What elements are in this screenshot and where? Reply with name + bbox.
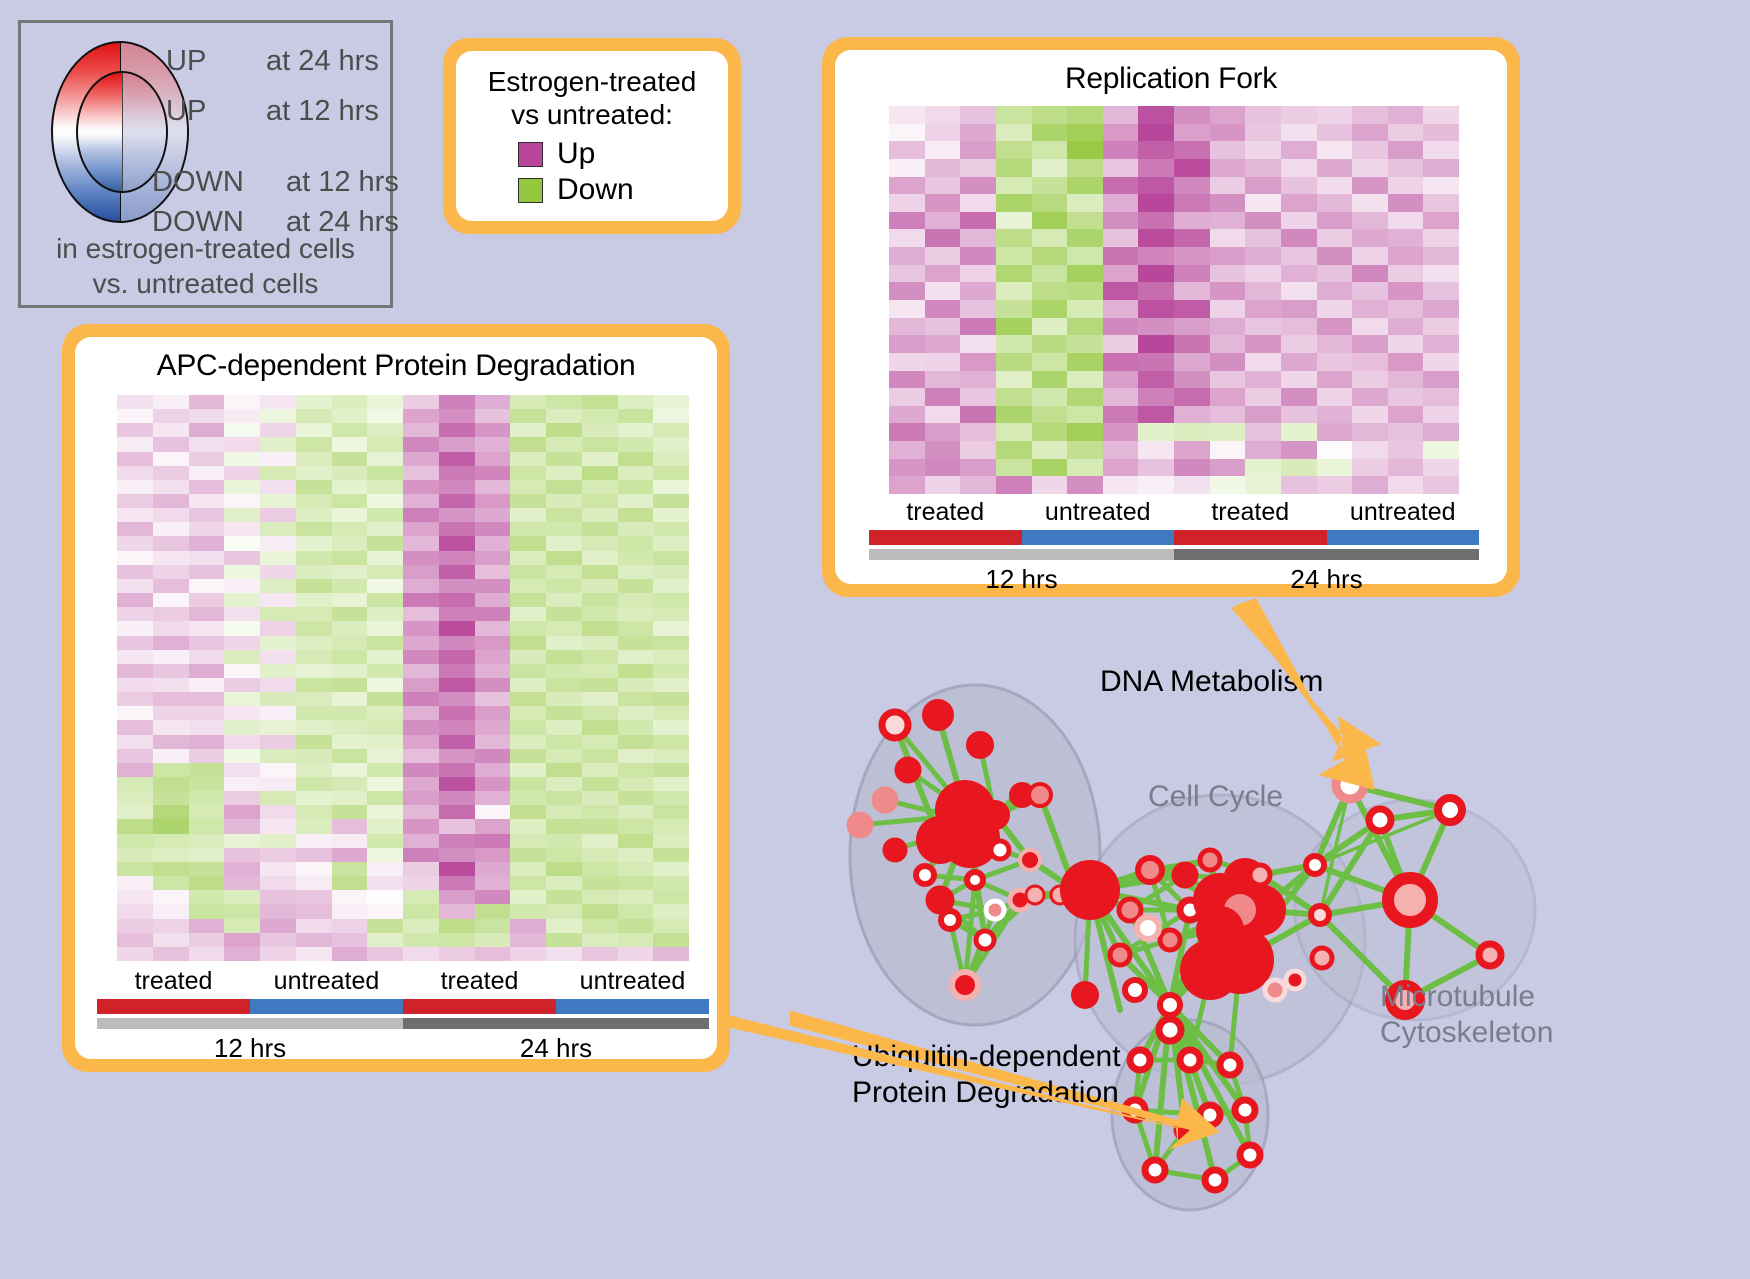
- heatmap-cell: [1103, 441, 1139, 459]
- heatmap-cell: [189, 480, 225, 494]
- heatmap-cell: [439, 678, 475, 692]
- heatmap-cell: [189, 664, 225, 678]
- heatmap-cell: [582, 409, 618, 423]
- heatmap-cell: [117, 749, 153, 763]
- heatmap-cell: [475, 720, 511, 734]
- heatmap-cell: [189, 593, 225, 607]
- heatmap-cell: [296, 763, 332, 777]
- heatmap-cell: [439, 848, 475, 862]
- heatmap-cell: [153, 395, 189, 409]
- heatmap-cell: [189, 819, 225, 833]
- heatmap-cell: [260, 947, 296, 961]
- heatmap-cell: [367, 890, 403, 904]
- heatmap-cell: [296, 593, 332, 607]
- heatmap-cell: [439, 834, 475, 848]
- apc-time-labels-row: 12 hrs 24 hrs: [97, 1029, 709, 1064]
- heatmap-cell: [224, 805, 260, 819]
- heatmap-cell: [618, 452, 654, 466]
- heatmap-cell: [996, 212, 1032, 230]
- heatmap-cell: [475, 706, 511, 720]
- heatmap-cell: [582, 452, 618, 466]
- heatmap-cell: [296, 423, 332, 437]
- heatmap-cell: [296, 536, 332, 550]
- heatmap-cell: [403, 522, 439, 536]
- heatmap-cell: [117, 423, 153, 437]
- heatmap-cell: [546, 536, 582, 550]
- heatmap-cell: [1067, 177, 1103, 195]
- heatmap-cell: [117, 636, 153, 650]
- heatmap-cell: [889, 371, 925, 389]
- heatmap-cell: [189, 395, 225, 409]
- heatmap-cell: [546, 692, 582, 706]
- heatmap-cell: [403, 565, 439, 579]
- heatmap-cell: [332, 423, 368, 437]
- heatmap-cell: [224, 933, 260, 947]
- heatmap-cell: [546, 791, 582, 805]
- heatmap-cell: [189, 904, 225, 918]
- heatmap-cell: [546, 749, 582, 763]
- heatmap-cell: [1032, 177, 1068, 195]
- heatmap-cell: [1174, 423, 1210, 441]
- heatmap-cell: [653, 947, 689, 961]
- heatmap-cell: [439, 791, 475, 805]
- heatmap-cell: [1032, 353, 1068, 371]
- node: [1250, 865, 1270, 885]
- heatmap-cell: [996, 318, 1032, 336]
- heatmap-cell: [510, 607, 546, 621]
- heatmap-cell: [618, 947, 654, 961]
- heatmap-cell: [403, 763, 439, 777]
- heatmap-cell: [439, 607, 475, 621]
- heatmap-cell: [224, 536, 260, 550]
- heatmap-cell: [546, 508, 582, 522]
- heatmap-cell: [189, 452, 225, 466]
- heatmap-cell: [1032, 441, 1068, 459]
- heatmap-cell: [1138, 318, 1174, 336]
- heatmap-cell: [367, 409, 403, 423]
- heatmap-cell: [996, 159, 1032, 177]
- heatmap-cell: [618, 494, 654, 508]
- heatmap-cell: [260, 579, 296, 593]
- heatmap-cell: [889, 476, 925, 494]
- heatmap-cell: [582, 466, 618, 480]
- heatmap-cell: [1388, 459, 1424, 477]
- heatmap-cell: [117, 678, 153, 692]
- heatmap-cell: [546, 834, 582, 848]
- heatmap-cell: [332, 706, 368, 720]
- heatmap-cell: [367, 763, 403, 777]
- heatmap-cell: [332, 508, 368, 522]
- heatmap-cell: [618, 933, 654, 947]
- heatmap-cell: [117, 565, 153, 579]
- heatmap-cell: [1245, 406, 1281, 424]
- heatmap-cell: [1388, 229, 1424, 247]
- heatmap-cell: [403, 466, 439, 480]
- heatmap-cell: [618, 522, 654, 536]
- heatmap-cell: [653, 791, 689, 805]
- heatmap-cell: [1423, 124, 1459, 142]
- heatmap-cell: [260, 919, 296, 933]
- apc-heatmap: [117, 395, 689, 961]
- heatmap-cell: [653, 890, 689, 904]
- heatmap-cell: [1067, 282, 1103, 300]
- heatmap-cell: [475, 890, 511, 904]
- heatmap-cell: [403, 636, 439, 650]
- heatmap-cell: [582, 593, 618, 607]
- heatmap-cell: [582, 621, 618, 635]
- heatmap-cell: [367, 650, 403, 664]
- heatmap-cell: [1138, 388, 1174, 406]
- heatmap-cell: [260, 636, 296, 650]
- heatmap-cell: [367, 777, 403, 791]
- heatmap-cell: [618, 890, 654, 904]
- heatmap-cell: [403, 593, 439, 607]
- heatmap-cell: [1067, 247, 1103, 265]
- heatmap-cell: [260, 848, 296, 862]
- heatmap-cell: [439, 565, 475, 579]
- heatmap-cell: [260, 650, 296, 664]
- heatmap-cell: [475, 494, 511, 508]
- heatmap-cell: [260, 678, 296, 692]
- heatmap-cell: [153, 650, 189, 664]
- heatmap-cell: [653, 565, 689, 579]
- heatmap-cell: [1245, 335, 1281, 353]
- heatmap-cell: [653, 621, 689, 635]
- heatmap-cell: [653, 536, 689, 550]
- heatmap-cell: [296, 466, 332, 480]
- heatmap-cell: [582, 876, 618, 890]
- heatmap-cell: [439, 636, 475, 650]
- heatmap-cell: [546, 437, 582, 451]
- heatmap-cell: [403, 904, 439, 918]
- heatmap-cell: [1281, 141, 1317, 159]
- heatmap-cell: [332, 494, 368, 508]
- heatmap-cell: [117, 551, 153, 565]
- node: [976, 931, 994, 949]
- node: [1110, 945, 1130, 965]
- colorwheel-caption-line2: vs. untreated cells: [21, 266, 390, 301]
- heatmap-cell: [403, 834, 439, 848]
- heatmap-cell: [510, 933, 546, 947]
- heatmap-cell: [367, 480, 403, 494]
- heatmap-cell: [1352, 300, 1388, 318]
- heatmap-cell: [475, 819, 511, 833]
- heatmap-cell: [296, 579, 332, 593]
- heatmap-cell: [439, 763, 475, 777]
- heatmap-cell: [582, 437, 618, 451]
- heatmap-cell: [960, 388, 996, 406]
- heatmap-cell: [1174, 247, 1210, 265]
- heatmap-cell: [618, 848, 654, 862]
- apc-bar-24hrs: [403, 1018, 709, 1029]
- heatmap-cell: [1103, 141, 1139, 159]
- heatmap-cell: [510, 494, 546, 508]
- updown-key-card: Estrogen-treated vs untreated: Up Down: [443, 38, 741, 234]
- heatmap-cell: [1032, 106, 1068, 124]
- heatmap-cell: [1423, 229, 1459, 247]
- heatmap-cell: [510, 664, 546, 678]
- heatmap-cell: [475, 621, 511, 635]
- heatmap-cell: [1174, 406, 1210, 424]
- heatmap-cell: [1388, 194, 1424, 212]
- heatmap-cell: [475, 919, 511, 933]
- heatmap-cell: [1281, 106, 1317, 124]
- heatmap-cell: [510, 947, 546, 961]
- heatmap-cell: [1281, 159, 1317, 177]
- heatmap-cell: [1210, 388, 1246, 406]
- heatmap-cell: [1317, 406, 1353, 424]
- heatmap-cell: [1423, 247, 1459, 265]
- heatmap-cell: [332, 678, 368, 692]
- heatmap-cell: [618, 834, 654, 848]
- heatmap-cell: [1174, 371, 1210, 389]
- heatmap-cell: [189, 494, 225, 508]
- heatmap-cell: [653, 819, 689, 833]
- heatmap-cell: [475, 904, 511, 918]
- rep-time-label-24: 24 hrs: [1174, 560, 1479, 595]
- apc-title: APC-dependent Protein Degradation: [75, 337, 717, 383]
- node: [1029, 784, 1051, 806]
- heatmap-cell: [1317, 177, 1353, 195]
- heatmap-cell: [189, 933, 225, 947]
- heatmap-cell: [224, 551, 260, 565]
- heatmap-cell: [546, 621, 582, 635]
- heatmap-cell: [1281, 353, 1317, 371]
- heatmap-cell: [403, 791, 439, 805]
- down-label: Down: [557, 173, 634, 207]
- heatmap-cell: [117, 593, 153, 607]
- heatmap-cell: [653, 579, 689, 593]
- heatmap-cell: [925, 141, 961, 159]
- heatmap-cell: [1388, 212, 1424, 230]
- rep-bar-treated-12: [869, 530, 1022, 545]
- heatmap-cell: [925, 388, 961, 406]
- heatmap-cell: [189, 876, 225, 890]
- heatmap-cell: [260, 777, 296, 791]
- heatmap-cell: [1210, 265, 1246, 283]
- heatmap-cell: [582, 919, 618, 933]
- heatmap-cell: [1317, 459, 1353, 477]
- heatmap-cell: [332, 735, 368, 749]
- heatmap-cell: [153, 791, 189, 805]
- heatmap-cell: [403, 919, 439, 933]
- heatmap-cell: [1352, 353, 1388, 371]
- heatmap-cell: [889, 247, 925, 265]
- heatmap-cell: [153, 607, 189, 621]
- heatmap-cell: [260, 763, 296, 777]
- heatmap-cell: [224, 692, 260, 706]
- heatmap-cell: [367, 466, 403, 480]
- cluster-label-dna-metabolism: DNA Metabolism: [1100, 665, 1323, 699]
- heatmap-cell: [1138, 212, 1174, 230]
- heatmap-cell: [925, 371, 961, 389]
- heatmap-cell: [153, 409, 189, 423]
- heatmap-cell: [403, 692, 439, 706]
- heatmap-cell: [260, 933, 296, 947]
- heatmap-cell: [224, 607, 260, 621]
- heatmap-cell: [1138, 371, 1174, 389]
- heatmap-cell: [403, 876, 439, 890]
- heatmap-cell: [1210, 212, 1246, 230]
- node: [1060, 860, 1120, 920]
- figure-root: UP at 24 hrs UP at 12 hrs DOWN at 12 hrs…: [0, 0, 1750, 1279]
- heatmap-cell: [1388, 476, 1424, 494]
- heatmap-cell: [889, 177, 925, 195]
- heatmap-cell: [332, 536, 368, 550]
- heatmap-cell: [260, 904, 296, 918]
- heatmap-cell: [153, 947, 189, 961]
- heatmap-cell: [618, 508, 654, 522]
- heatmap-cell: [332, 791, 368, 805]
- heatmap-cell: [475, 862, 511, 876]
- heatmap-cell: [889, 265, 925, 283]
- heatmap-cell: [925, 441, 961, 459]
- heatmap-cell: [367, 876, 403, 890]
- heatmap-cell: [582, 423, 618, 437]
- heatmap-cell: [546, 890, 582, 904]
- heatmap-cell: [260, 423, 296, 437]
- heatmap-cell: [960, 141, 996, 159]
- heatmap-cell: [153, 904, 189, 918]
- node: [916, 816, 964, 864]
- node: [1369, 809, 1391, 831]
- heatmap-cell: [332, 904, 368, 918]
- heatmap-cell: [367, 621, 403, 635]
- heatmap-cell: [1174, 159, 1210, 177]
- cluster-label-ubiquitin-line1: Ubiquitin-dependent: [852, 1040, 1121, 1074]
- heatmap-cell: [1245, 141, 1281, 159]
- heatmap-cell: [296, 834, 332, 848]
- heatmap-cell: [1352, 177, 1388, 195]
- heatmap-cell: [475, 678, 511, 692]
- heatmap-cell: [296, 706, 332, 720]
- node: [1479, 944, 1501, 966]
- heatmap-cell: [618, 636, 654, 650]
- heatmap-cell: [224, 480, 260, 494]
- heatmap-cell: [260, 593, 296, 607]
- heatmap-cell: [332, 395, 368, 409]
- apc-bar-12hrs: [97, 1018, 403, 1029]
- heatmap-cell: [439, 551, 475, 565]
- heatmap-cell: [439, 904, 475, 918]
- heatmap-cell: [117, 904, 153, 918]
- heatmap-cell: [332, 876, 368, 890]
- heatmap-cell: [1352, 282, 1388, 300]
- heatmap-cell: [1388, 159, 1424, 177]
- heatmap-cell: [1103, 229, 1139, 247]
- heatmap-cell: [1067, 212, 1103, 230]
- heatmap-cell: [1067, 159, 1103, 177]
- rep-time-label-12: 12 hrs: [869, 560, 1174, 595]
- heatmap-cell: [582, 848, 618, 862]
- heatmap-cell: [224, 508, 260, 522]
- heatmap-cell: [224, 819, 260, 833]
- heatmap-cell: [189, 423, 225, 437]
- cluster-label-cell-cycle: Cell Cycle: [1148, 780, 1283, 814]
- heatmap-cell: [1245, 459, 1281, 477]
- heatmap-cell: [618, 480, 654, 494]
- heatmap-cell: [996, 177, 1032, 195]
- heatmap-cell: [260, 720, 296, 734]
- heatmap-cell: [582, 494, 618, 508]
- heatmap-cell: [296, 452, 332, 466]
- heatmap-cell: [439, 890, 475, 904]
- heatmap-cell: [189, 777, 225, 791]
- heatmap-cell: [296, 409, 332, 423]
- heatmap-cell: [475, 579, 511, 593]
- heatmap-cell: [960, 423, 996, 441]
- heatmap-cell: [618, 791, 654, 805]
- node: [1265, 980, 1285, 1000]
- heatmap-cell: [296, 947, 332, 961]
- heatmap-cell: [403, 862, 439, 876]
- heatmap-cell: [510, 749, 546, 763]
- heatmap-cell: [403, 437, 439, 451]
- heatmap-cell: [439, 650, 475, 664]
- rep-bar-untreated-24: [1327, 530, 1480, 545]
- heatmap-cell: [582, 551, 618, 565]
- heatmap-cell: [439, 947, 475, 961]
- heatmap-cell: [889, 335, 925, 353]
- heatmap-cell: [332, 522, 368, 536]
- heatmap-cell: [296, 522, 332, 536]
- heatmap-cell: [996, 406, 1032, 424]
- heatmap-cell: [1388, 247, 1424, 265]
- heatmap-cell: [332, 437, 368, 451]
- heatmap-cell: [653, 848, 689, 862]
- heatmap-cell: [925, 106, 961, 124]
- heatmap-cell: [618, 749, 654, 763]
- heatmap-cell: [996, 282, 1032, 300]
- heatmap-cell: [618, 819, 654, 833]
- heatmap-cell: [582, 636, 618, 650]
- heatmap-cell: [1317, 141, 1353, 159]
- heatmap-cell: [117, 805, 153, 819]
- heatmap-cell: [439, 692, 475, 706]
- heatmap-cell: [546, 650, 582, 664]
- heatmap-cell: [510, 593, 546, 607]
- node: [849, 814, 871, 836]
- heatmap-cell: [475, 395, 511, 409]
- heatmap-cell: [332, 636, 368, 650]
- heatmap-cell: [1103, 282, 1139, 300]
- heatmap-cell: [367, 522, 403, 536]
- heatmap-cell: [224, 466, 260, 480]
- heatmap-cell: [618, 437, 654, 451]
- heatmap-cell: [1317, 282, 1353, 300]
- heatmap-cell: [546, 565, 582, 579]
- heatmap-cell: [510, 536, 546, 550]
- heatmap-cell: [1245, 229, 1281, 247]
- heatmap-cell: [1317, 265, 1353, 283]
- apc-bar-treated-24: [403, 999, 556, 1014]
- wheel-time-up-12: at 12 hrs: [266, 95, 379, 128]
- heatmap-cell: [332, 763, 368, 777]
- heatmap-cell: [510, 437, 546, 451]
- heatmap-cell: [1423, 335, 1459, 353]
- heatmap-cell: [1388, 423, 1424, 441]
- node: [986, 901, 1004, 919]
- heatmap-cell: [260, 551, 296, 565]
- heatmap-cell: [1138, 124, 1174, 142]
- heatmap-cell: [403, 536, 439, 550]
- heatmap-cell: [546, 848, 582, 862]
- heatmap-cell: [260, 791, 296, 805]
- apc-group-label-1: untreated: [250, 967, 403, 996]
- heatmap-cell: [1317, 441, 1353, 459]
- heatmap-cell: [618, 565, 654, 579]
- heatmap-cell: [332, 890, 368, 904]
